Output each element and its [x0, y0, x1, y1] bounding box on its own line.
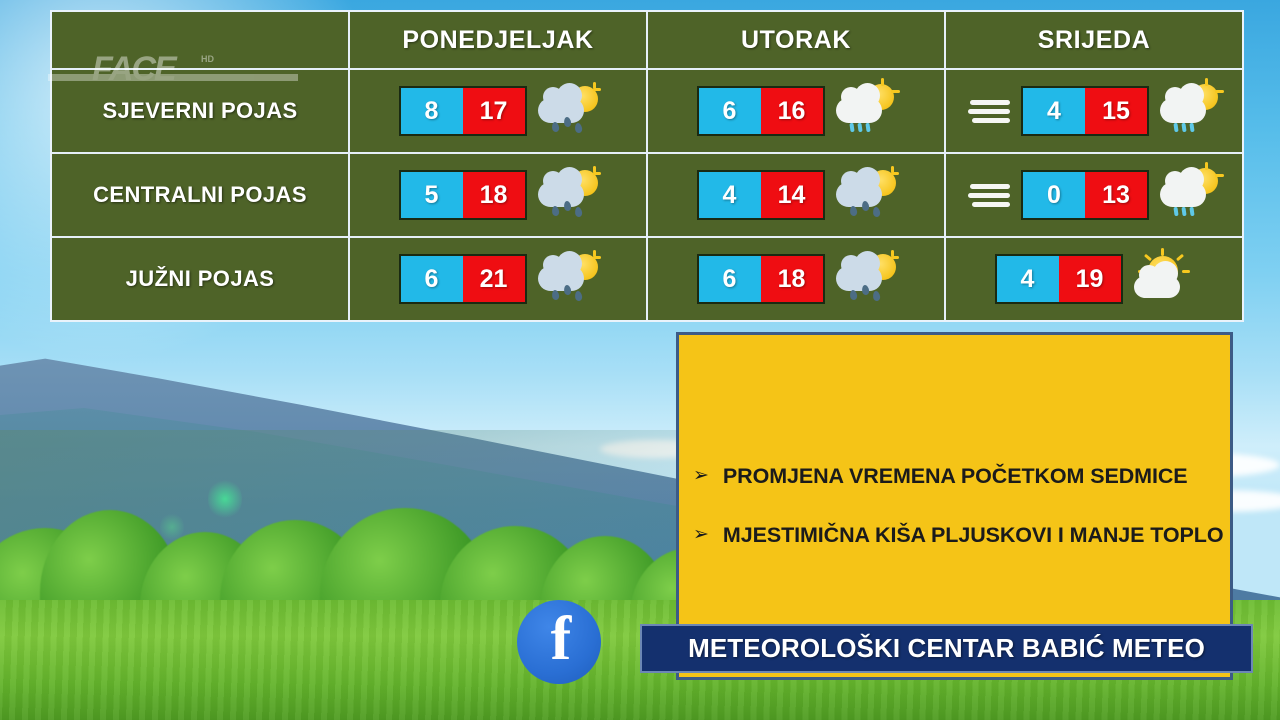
- bullet-arrow-icon: ➢: [693, 466, 709, 485]
- day-header-label: SRIJEDA: [1038, 26, 1151, 55]
- sun-cloud-rain-icon: [536, 254, 598, 304]
- table-header-row: PONEDJELJAK UTORAK SRIJEDA: [52, 12, 1242, 70]
- temperature-range: 4 14: [697, 170, 825, 220]
- forecast-cell: 5 18: [350, 154, 648, 236]
- wind-icon: [968, 184, 1012, 207]
- forecast-table: PONEDJELJAK UTORAK SRIJEDA SJEVERNI POJA…: [50, 10, 1244, 322]
- temp-min: 5: [401, 172, 463, 218]
- temp-min: 6: [699, 88, 761, 134]
- sun-cloud-rain-icon: [834, 254, 896, 304]
- temp-max: 16: [761, 88, 823, 134]
- day-header-wednesday: SRIJEDA: [946, 12, 1242, 68]
- facebook-icon[interactable]: f: [517, 600, 601, 684]
- temperature-range: 8 17: [399, 86, 527, 136]
- temperature-range: 4 15: [1021, 86, 1149, 136]
- forecast-cell: 8 17: [350, 70, 648, 152]
- temp-min: 4: [997, 256, 1059, 302]
- day-header-label: PONEDJELJAK: [402, 26, 593, 55]
- zone-label: JUŽNI POJAS: [126, 266, 275, 292]
- zone-label-cell: SJEVERNI POJAS: [52, 70, 350, 152]
- temp-min: 8: [401, 88, 463, 134]
- bullet-arrow-icon: ➢: [693, 525, 709, 544]
- temp-max: 17: [463, 88, 525, 134]
- day-header-label: UTORAK: [741, 26, 851, 55]
- temperature-range: 6 16: [697, 86, 825, 136]
- temp-max: 21: [463, 256, 525, 302]
- day-header-monday: PONEDJELJAK: [350, 12, 648, 68]
- forecast-cell: 4 14: [648, 154, 946, 236]
- temperature-range: 0 13: [1021, 170, 1149, 220]
- temp-min: 6: [699, 256, 761, 302]
- table-corner-cell: [52, 12, 350, 68]
- lens-flare: [160, 512, 184, 542]
- temp-max: 13: [1085, 172, 1147, 218]
- bullet-item: ➢ MJESTIMIČNA KIŠA PLJUSKOVI I MANJE TOP…: [693, 523, 1216, 548]
- temperature-range: 4 19: [995, 254, 1123, 304]
- temp-min: 4: [699, 172, 761, 218]
- sun-cloud-icon: [1132, 254, 1194, 304]
- day-header-tuesday: UTORAK: [648, 12, 946, 68]
- forecast-cell: 6 18: [648, 238, 946, 320]
- zone-label: CENTRALNI POJAS: [93, 182, 307, 208]
- temp-max: 14: [761, 172, 823, 218]
- table-row: SJEVERNI POJAS 8 17: [52, 70, 1242, 154]
- temp-max: 15: [1085, 88, 1147, 134]
- temp-min: 6: [401, 256, 463, 302]
- temp-max: 19: [1059, 256, 1121, 302]
- bullet-item: ➢ PROMJENA VREMENA POČETKOM SEDMICE: [693, 464, 1216, 489]
- forecast-cell: 4 15: [946, 70, 1242, 152]
- forecast-cell: 6 21: [350, 238, 648, 320]
- sun-cloud-rain-icon: [536, 86, 598, 136]
- zone-label: SJEVERNI POJAS: [102, 98, 297, 124]
- zone-label-cell: CENTRALNI POJAS: [52, 154, 350, 236]
- zone-label-cell: JUŽNI POJAS: [52, 238, 350, 320]
- table-row: CENTRALNI POJAS 5 18: [52, 154, 1242, 238]
- table-row: JUŽNI POJAS 6 21: [52, 238, 1242, 320]
- temperature-range: 6 18: [697, 254, 825, 304]
- sun-cloud-light-rain-icon: [834, 86, 896, 136]
- sun-cloud-light-rain-icon: [1158, 170, 1220, 220]
- forecast-cell: 4 19: [946, 238, 1242, 320]
- lens-flare: [208, 478, 242, 520]
- temperature-range: 5 18: [399, 170, 527, 220]
- temp-min: 0: [1023, 172, 1085, 218]
- forecast-cell: 0 13: [946, 154, 1242, 236]
- lower-third-banner: METEOROLOŠKI CENTAR BABIĆ METEO: [640, 624, 1253, 673]
- temp-max: 18: [761, 256, 823, 302]
- facebook-glyph: f: [551, 610, 572, 668]
- sun-cloud-rain-icon: [536, 170, 598, 220]
- temp-max: 18: [463, 172, 525, 218]
- forecast-cell: 6 16: [648, 70, 946, 152]
- sun-cloud-light-rain-icon: [1158, 86, 1220, 136]
- banner-title: METEOROLOŠKI CENTAR BABIĆ METEO: [688, 633, 1205, 664]
- bullet-text: MJESTIMIČNA KIŠA PLJUSKOVI I MANJE TOPLO: [723, 523, 1224, 548]
- wind-icon: [968, 100, 1012, 123]
- bullet-text: PROMJENA VREMENA POČETKOM SEDMICE: [723, 464, 1188, 489]
- temperature-range: 6 21: [399, 254, 527, 304]
- sun-cloud-rain-icon: [834, 170, 896, 220]
- temp-min: 4: [1023, 88, 1085, 134]
